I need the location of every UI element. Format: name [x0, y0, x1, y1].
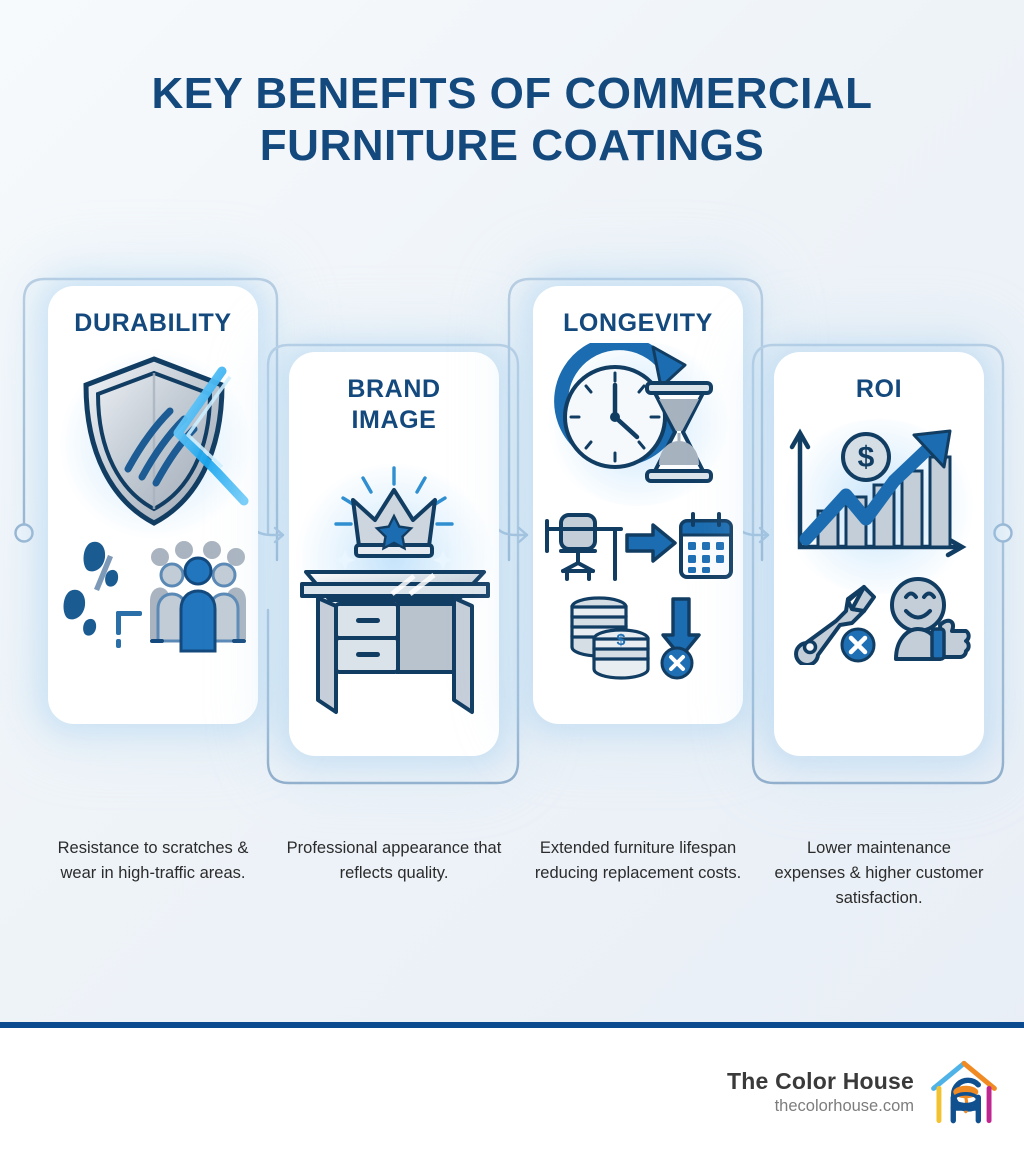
dollar-coin-icon: $ — [843, 434, 889, 480]
svg-text:$: $ — [858, 441, 875, 474]
brand-name: The Color House — [727, 1067, 914, 1095]
card-caption-brand-image: Professional appearance that reflects qu… — [285, 836, 503, 886]
x-circle-icon — [662, 648, 692, 678]
wrench-icon — [790, 581, 880, 665]
card-caption-longevity: Extended furniture lifespan reducing rep… — [529, 836, 747, 886]
brand-text: The Color House thecolorhouse.com — [727, 1067, 914, 1117]
page-title-line-2: FURNITURE COATINGS — [0, 120, 1024, 172]
benefit-card-brand-image[interactable]: BRAND IMAGE — [289, 352, 499, 756]
card-title-durability: DURABILITY — [48, 308, 258, 339]
card-artwork-brand-image — [289, 436, 499, 736]
office-chair-icon — [543, 511, 733, 587]
card-caption-roi: Lower maintenance expenses & higher cust… — [770, 836, 988, 911]
card-title-longevity: LONGEVITY — [533, 308, 743, 339]
coin-stack-icon: $ — [565, 595, 715, 681]
card-artwork-roi: $ — [774, 405, 984, 705]
x-circle-icon — [842, 629, 874, 661]
svg-text:$: $ — [617, 632, 626, 649]
footprints-icon — [60, 535, 156, 655]
clock-arrow-icon — [549, 343, 729, 493]
desk-icon — [296, 560, 492, 720]
benefit-card-roi[interactable]: ROI — [774, 352, 984, 756]
growth-chart-icon: $ — [784, 423, 974, 573]
calendar-icon — [681, 514, 731, 577]
color-house-logo — [928, 1058, 1000, 1126]
benefit-card-durability[interactable]: DURABILITY — [48, 286, 258, 724]
card-title-brand-image: BRAND IMAGE — [289, 374, 499, 436]
card-artwork-durability — [48, 339, 258, 669]
card-artwork-longevity: $ — [533, 339, 743, 669]
brand-block[interactable]: The Color House thecolorhouse.com — [727, 1058, 1000, 1126]
card-title-line-1: BRAND — [289, 374, 499, 405]
smiley-thumbs-up-icon — [878, 577, 974, 661]
card-title-roi: ROI — [774, 374, 984, 405]
footer: The Color House thecolorhouse.com — [0, 1028, 1024, 1154]
connector-end-node — [995, 525, 1012, 542]
card-caption-durability: Resistance to scratches & wear in high-t… — [44, 836, 262, 886]
crown-icon — [329, 466, 459, 574]
crowd-of-people-icon — [146, 539, 252, 655]
infographic-root: KEY BENEFITS OF COMMERCIAL FURNITURE COA… — [0, 0, 1024, 1154]
shield-scratched-icon — [54, 341, 254, 541]
benefit-card-longevity[interactable]: LONGEVITY — [533, 286, 743, 724]
connector-start-node — [16, 525, 33, 542]
page-title: KEY BENEFITS OF COMMERCIAL FURNITURE COA… — [0, 68, 1024, 172]
page-title-line-1: KEY BENEFITS OF COMMERCIAL — [0, 68, 1024, 120]
brand-url: thecolorhouse.com — [727, 1095, 914, 1117]
card-title-line-2: IMAGE — [289, 405, 499, 436]
